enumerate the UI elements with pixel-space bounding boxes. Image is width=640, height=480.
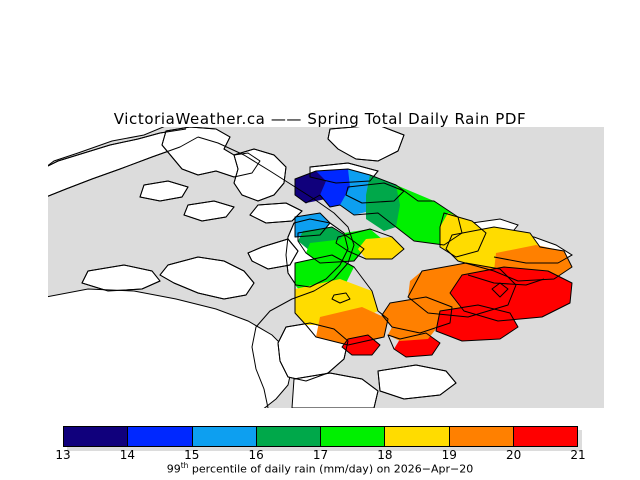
colorbar-segment-7 — [514, 427, 577, 446]
colorbar-tick-15: 15 — [184, 448, 199, 462]
colorbar-segment-2 — [193, 427, 257, 446]
caption-rest: percentile of daily rain (mm/day) on 202… — [188, 463, 473, 476]
colorbar-tick-14: 14 — [120, 448, 135, 462]
colorbar-segment-0 — [64, 427, 128, 446]
weather-map-figure: VictoriaWeather.ca —— Spring Total Daily… — [0, 0, 640, 480]
colorbar-segment-4 — [321, 427, 385, 446]
colorbar-tick-16: 16 — [248, 448, 263, 462]
colorbar-tick-18: 18 — [377, 448, 392, 462]
caption-prefix: 99 — [167, 463, 181, 476]
colorbar-segment-3 — [257, 427, 321, 446]
colorbar-segment-1 — [128, 427, 192, 446]
colorbar-segment-6 — [450, 427, 514, 446]
map-panel — [48, 127, 604, 408]
colorbar-tick-13: 13 — [55, 448, 70, 462]
colorbar-tick-19: 19 — [442, 448, 457, 462]
colorbar — [63, 426, 578, 447]
map-canvas — [48, 127, 604, 408]
colorbar-tick-labels: 131415161718192021 — [63, 448, 578, 462]
colorbar-tick-21: 21 — [570, 448, 585, 462]
colorbar-caption: 99th percentile of daily rain (mm/day) o… — [0, 461, 640, 476]
page-title: VictoriaWeather.ca —— Spring Total Daily… — [0, 110, 640, 128]
colorbar-tick-17: 17 — [313, 448, 328, 462]
colorbar-gradient — [63, 426, 578, 447]
colorbar-segment-5 — [385, 427, 449, 446]
colorbar-tick-20: 20 — [506, 448, 521, 462]
